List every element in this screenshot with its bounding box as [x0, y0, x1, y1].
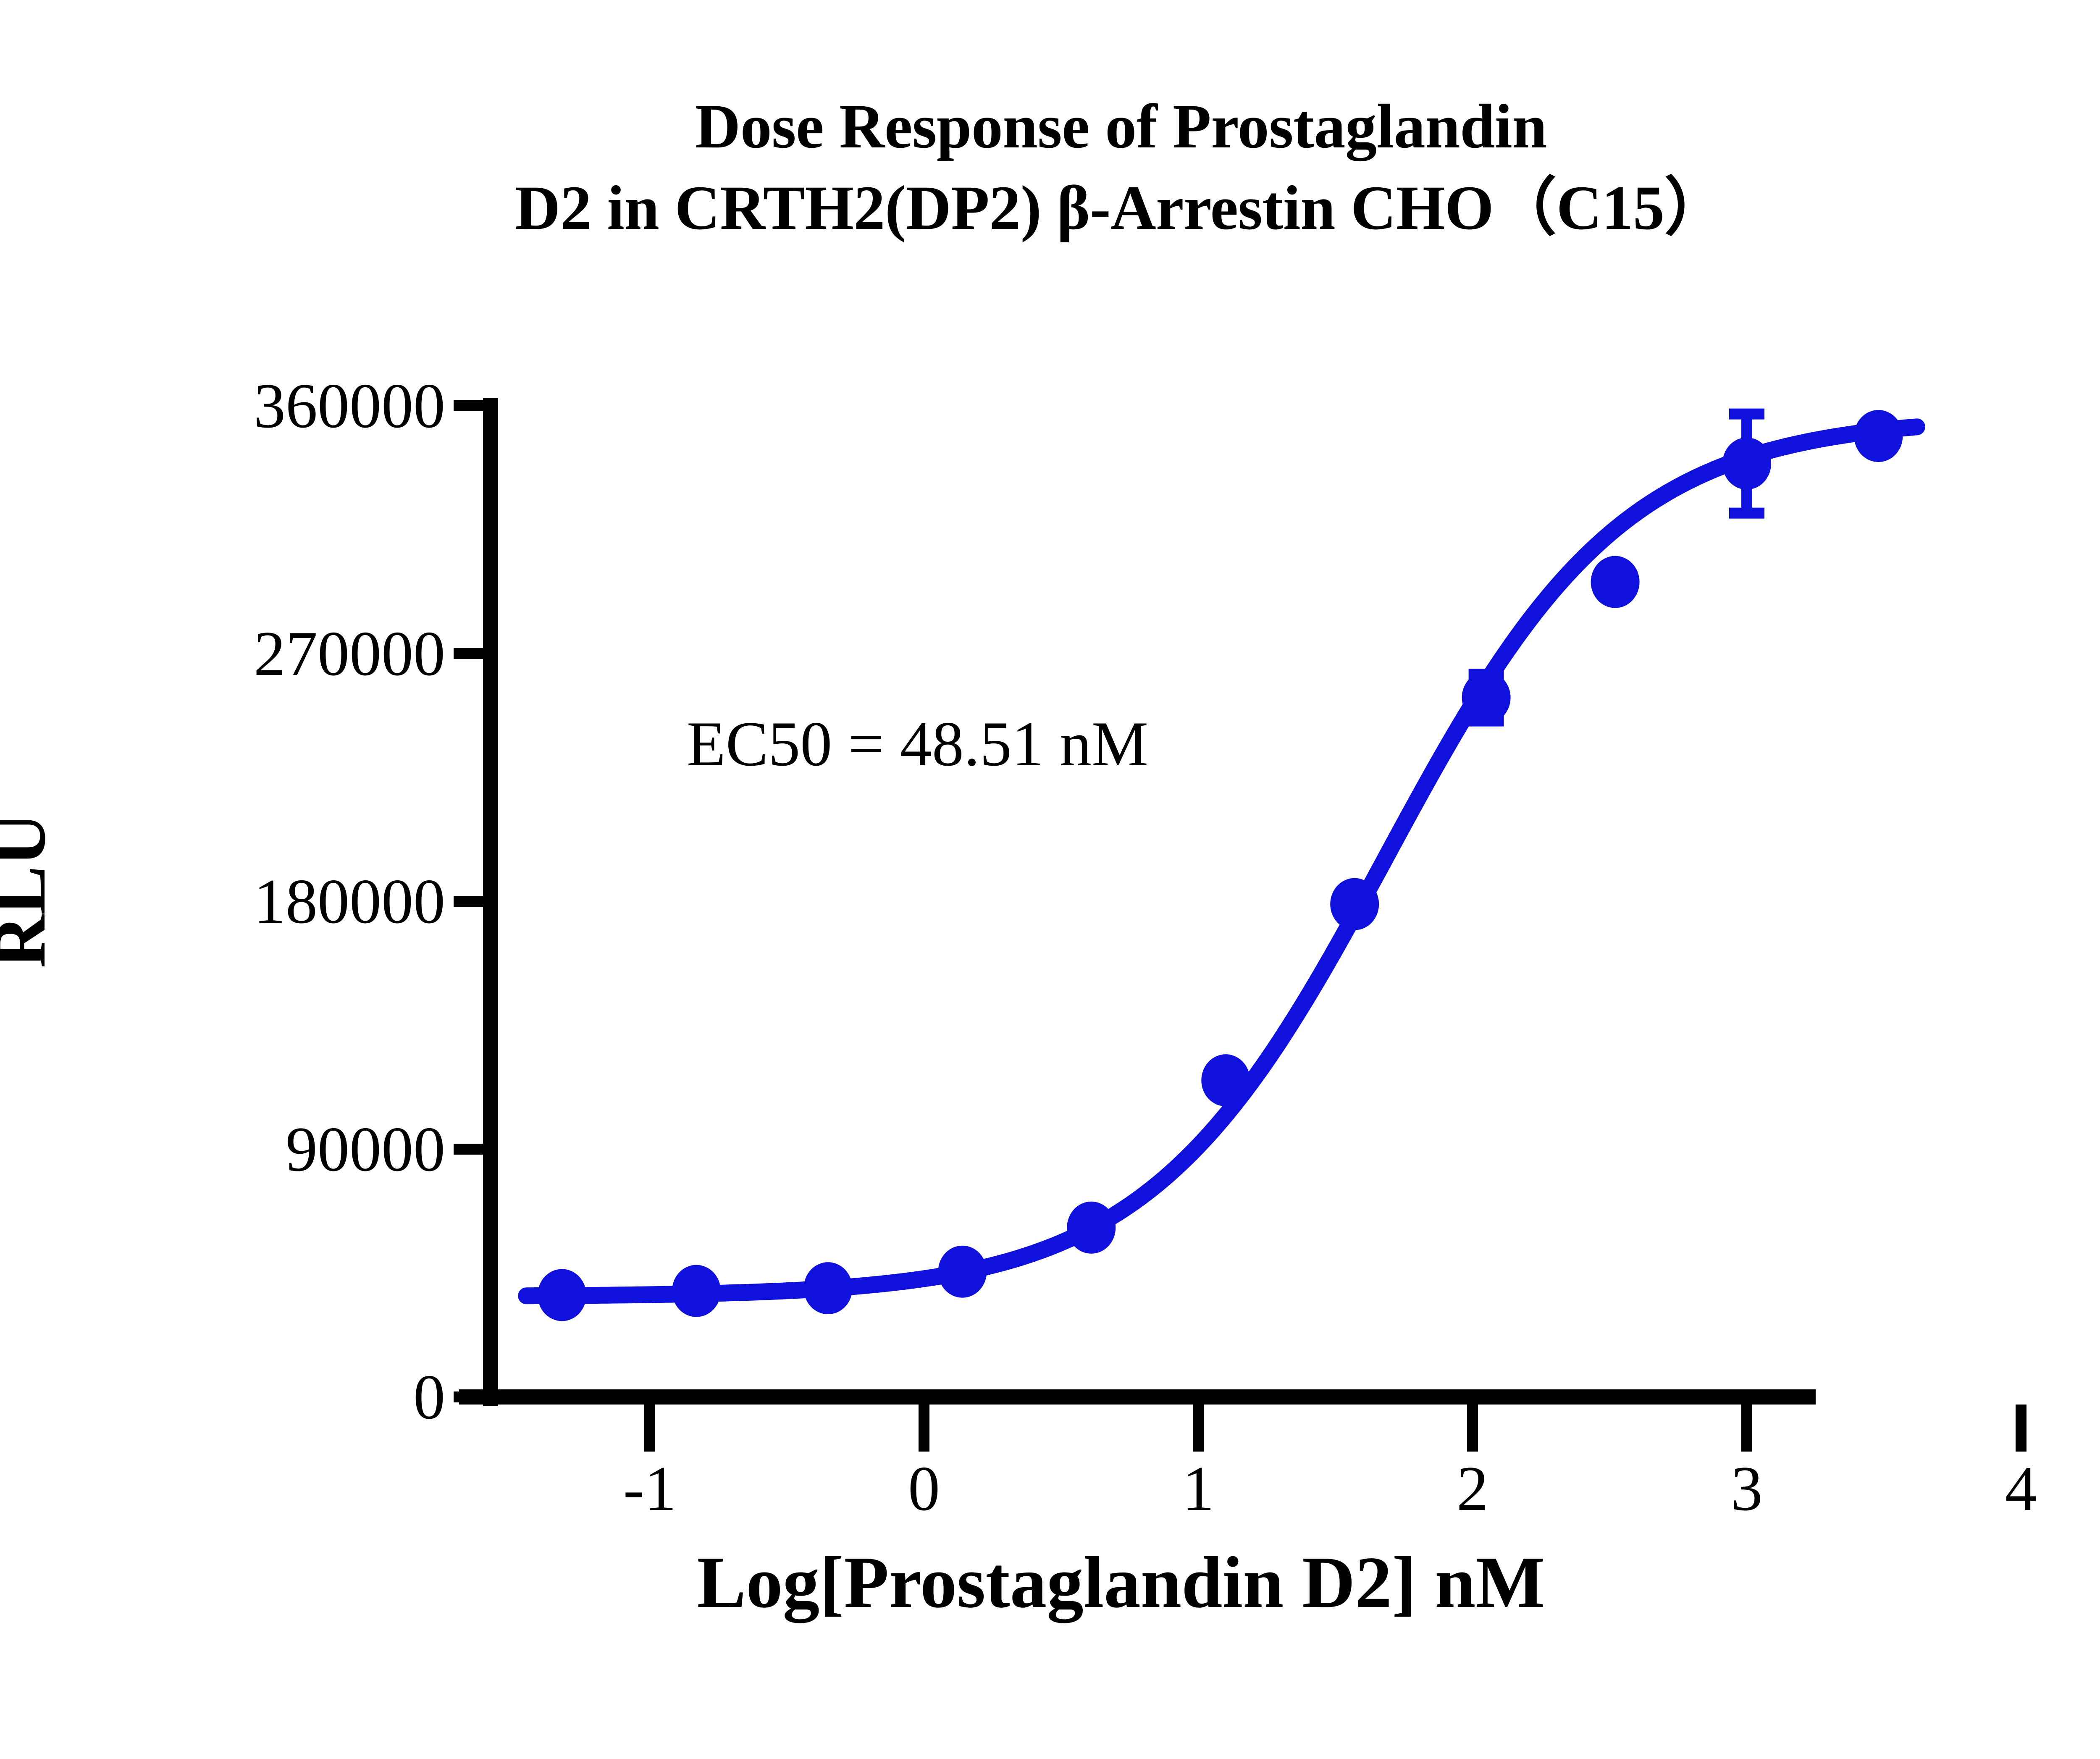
x-tick-label-4: 4: [1937, 1457, 2100, 1520]
y-tick-mark-270000: [454, 648, 483, 659]
data-point-marker: [938, 1246, 987, 1298]
data-point-marker: [1462, 672, 1511, 724]
y-tick-mark-90000: [454, 1144, 483, 1155]
data-point-marker: [1591, 556, 1640, 608]
data-point-marker: [538, 1269, 586, 1321]
y-tick-label-90000: 90000: [126, 1117, 445, 1181]
data-point-marker: [1067, 1202, 1116, 1254]
y-tick-mark-360000: [454, 400, 483, 411]
y-tick-label-270000: 270000: [126, 622, 445, 685]
error-bar-stem: [1741, 414, 1752, 513]
x-tick-mark-minus1: [644, 1405, 655, 1452]
x-tick-label-1: 1: [1114, 1457, 1282, 1520]
error-bar-cap-lower: [1469, 716, 1504, 727]
x-tick-label-minus1: -1: [566, 1457, 734, 1520]
x-tick-label-2: 2: [1389, 1457, 1557, 1520]
data-point-marker: [1854, 410, 1903, 462]
data-point-marker: [672, 1265, 721, 1317]
error-bars: [1469, 409, 1764, 727]
y-axis-title: RLU: [0, 743, 57, 1037]
y-tick-mark-0: [454, 1391, 483, 1402]
chart-title: Dose Response of Prostaglandin D2 in CRT…: [0, 86, 2100, 249]
y-tick-mark-180000: [454, 896, 483, 907]
fit-curve: [526, 427, 1917, 1296]
error-bar-cap-upper: [1729, 409, 1764, 420]
x-axis-line: [459, 1389, 1816, 1405]
data-point-marker: [1201, 1054, 1250, 1106]
y-tick-label-0: 0: [126, 1365, 445, 1429]
data-point-marker: [1722, 438, 1771, 490]
x-axis-title: Log[Prostaglandin D2] nM: [0, 1546, 2100, 1619]
x-tick-label-0: 0: [840, 1457, 1008, 1520]
chart-root: Dose Response of Prostaglandin D2 in CRT…: [0, 0, 2100, 1759]
data-point-marker: [804, 1262, 853, 1314]
data-point-markers: [538, 410, 1903, 1321]
x-tick-mark-4: [2016, 1405, 2026, 1452]
chart-title-line-1: Dose Response of Prostaglandin: [0, 86, 2100, 168]
y-tick-label-360000: 360000: [126, 374, 445, 438]
data-point-marker: [1330, 878, 1379, 930]
x-tick-mark-0: [919, 1405, 929, 1452]
x-tick-mark-3: [1741, 1405, 1752, 1452]
x-tick-mark-1: [1193, 1405, 1204, 1452]
x-tick-label-3: 3: [1663, 1457, 1831, 1520]
y-axis-line: [483, 398, 498, 1406]
error-bar-cap-upper: [1469, 669, 1504, 680]
error-bar-cap-lower: [1729, 508, 1764, 519]
error-bar-stem: [1481, 674, 1492, 721]
chart-title-line-2: D2 in CRTH2(DP2) β-Arrestin CHO（C15）: [0, 168, 2100, 249]
x-tick-mark-2: [1467, 1405, 1478, 1452]
y-tick-label-180000: 180000: [126, 869, 445, 933]
ec50-annotation: EC50 = 48.51 nM: [687, 712, 1148, 776]
